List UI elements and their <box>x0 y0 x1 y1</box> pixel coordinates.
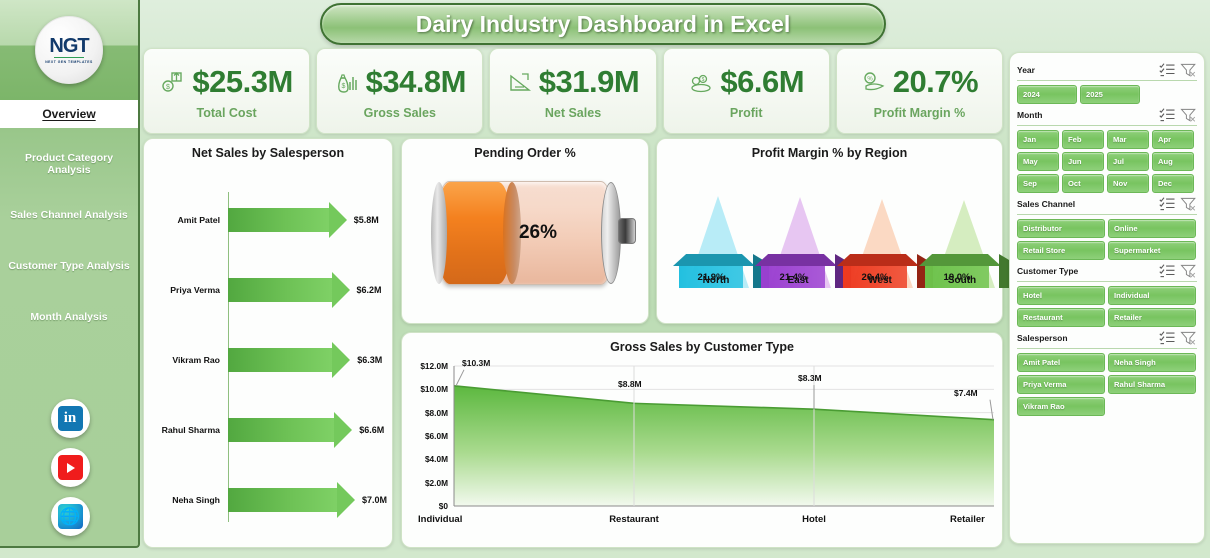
slicer-item[interactable]: Jul <box>1107 152 1149 171</box>
slicer-salesperson: SalespersonAmit PatelNeha SinghPriya Ver… <box>1017 331 1197 416</box>
globe-icon: 🌐 <box>58 504 83 529</box>
sidebar-item-overview[interactable]: Overview <box>0 100 138 128</box>
multi-select-icon[interactable] <box>1159 63 1176 77</box>
multi-select-icon[interactable] <box>1159 331 1176 345</box>
social-links: in 🌐 <box>0 399 140 536</box>
area-chart-plot: $0$2.0M$4.0M$6.0M$8.0M$10.0M$12.0M$10.3M… <box>402 354 1002 540</box>
clear-filter-icon[interactable] <box>1180 264 1197 278</box>
divider <box>1017 348 1197 349</box>
arrow-bar <box>228 418 335 442</box>
x-axis-tick: Retailer <box>950 514 985 525</box>
divider <box>1017 281 1197 282</box>
area-series <box>402 354 1004 524</box>
sidebar-item-label: Sales Channel Analysis <box>10 209 128 221</box>
chart-gross-sales-by-customer-type: Gross Sales by Customer Type $0$2.0M$4.0… <box>401 332 1003 548</box>
slicer-item[interactable]: 2025 <box>1080 85 1140 104</box>
kpi-label: Total Cost <box>197 106 257 120</box>
kpi-value: $31.9M <box>539 64 639 100</box>
slicer-item[interactable]: Retail Store <box>1017 241 1105 260</box>
logo-divider <box>54 57 84 59</box>
gross-sales-icon: $ <box>334 70 360 94</box>
category-label: East <box>755 275 841 286</box>
slicer-item[interactable]: Apr <box>1152 130 1194 149</box>
category-label: Vikram Rao <box>144 355 224 365</box>
slicer-item[interactable]: Individual <box>1108 286 1196 305</box>
pyramid-bar: 19.0%South <box>919 170 1005 288</box>
slicer-title: Year <box>1017 65 1155 75</box>
kpi-card-net-sales: $31.9M Net Sales <box>489 48 656 134</box>
pyramid-bar: 21.9%North <box>673 170 759 288</box>
kpi-label: Profit Margin % <box>874 106 966 120</box>
arrow-chart-plot: Amit Patel$5.8MPriya Verma$6.2MVikram Ra… <box>144 162 392 532</box>
slicer-item[interactable]: Oct <box>1062 174 1104 193</box>
data-point-label: $7.4M <box>954 388 978 398</box>
clear-filter-icon[interactable] <box>1180 63 1197 77</box>
multi-select-icon[interactable] <box>1159 108 1176 122</box>
kpi-card-profit-margin: % 20.7% Profit Margin % <box>836 48 1003 134</box>
arrow-bar <box>228 488 338 512</box>
slicer-items: HotelIndividualRestaurantRetailer <box>1017 286 1197 327</box>
clear-filter-icon[interactable] <box>1180 331 1197 345</box>
logo: NGT NEXT GEN TEMPLATES <box>35 16 103 84</box>
slicer-header: Sales Channel <box>1017 197 1197 211</box>
category-label: South <box>919 275 1005 286</box>
slicer-header: Customer Type <box>1017 264 1197 278</box>
arrow-bar-row: Amit Patel$5.8M <box>144 200 392 240</box>
x-axis-tick: Individual <box>418 514 462 525</box>
value-label: $6.2M <box>357 285 382 295</box>
arrow-bar <box>228 348 333 372</box>
multi-select-icon[interactable] <box>1159 264 1176 278</box>
slicer-header: Month <box>1017 108 1197 122</box>
logo-mark: NGT <box>49 36 88 56</box>
slicer-items: DistributorOnlineRetail StoreSupermarket <box>1017 219 1197 260</box>
sidebar-item-sales-channel-analysis[interactable]: Sales Channel Analysis <box>0 189 138 240</box>
pyramid-bar: 20.4%West <box>837 170 923 288</box>
divider <box>1017 125 1197 126</box>
x-axis-tick: Hotel <box>779 514 849 525</box>
x-axis-tick: Restaurant <box>599 514 669 525</box>
data-point-label: $10.3M <box>462 358 490 368</box>
divider <box>1017 80 1197 81</box>
sidebar-item-label: Product Category Analysis <box>4 152 134 176</box>
slicer-item[interactable]: Rahul Sharma <box>1108 375 1196 394</box>
battery-terminal <box>618 218 636 244</box>
value-label: $5.8M <box>354 215 379 225</box>
slicer-item[interactable]: Vikram Rao <box>1017 397 1105 416</box>
kpi-label: Gross Sales <box>364 106 436 120</box>
youtube-link[interactable] <box>51 448 90 487</box>
slicer-item[interactable]: Nov <box>1107 174 1149 193</box>
category-label: North <box>673 275 759 286</box>
slicer-title: Month <box>1017 110 1155 120</box>
slicer-item[interactable]: Amit Patel <box>1017 353 1105 372</box>
svg-text:%: % <box>867 77 873 83</box>
slicer-item[interactable]: Distributor <box>1017 219 1105 238</box>
chart-title: Gross Sales by Customer Type <box>402 333 1002 354</box>
kpi-label: Profit <box>730 106 763 120</box>
slicer-item[interactable]: Jan <box>1017 130 1059 149</box>
linkedin-link[interactable]: in <box>51 399 90 438</box>
kpi-card-profit: $ $6.6M Profit <box>663 48 830 134</box>
category-label: Amit Patel <box>144 215 224 225</box>
kpi-label: Net Sales <box>545 106 601 120</box>
slicer-title: Customer Type <box>1017 266 1155 276</box>
category-label: Neha Singh <box>144 495 224 505</box>
slicer-item[interactable]: Hotel <box>1017 286 1105 305</box>
page-title: Dairy Industry Dashboard in Excel <box>320 3 886 45</box>
slicer-header: Salesperson <box>1017 331 1197 345</box>
arrow-bar <box>228 278 333 302</box>
website-link[interactable]: 🌐 <box>51 497 90 536</box>
slicer-title: Sales Channel <box>1017 199 1155 209</box>
slicer-header: Year <box>1017 63 1197 77</box>
arrow-bar <box>228 208 330 232</box>
slicer-items: Amit PatelNeha SinghPriya VermaRahul Sha… <box>1017 353 1197 416</box>
sidebar-item-label: Month Analysis <box>30 311 107 323</box>
kpi-row: $ $25.3M Total Cost $ $34.8M Gross Sales <box>143 48 1003 134</box>
slicer-item[interactable]: Sep <box>1017 174 1059 193</box>
slicer-items: JanFebMarAprMayJunJulAugSepOctNovDec <box>1017 130 1197 193</box>
gauge-value: 26% <box>436 182 614 284</box>
svg-text:$: $ <box>341 83 345 90</box>
profit-icon: $ <box>688 70 714 94</box>
divider <box>1017 214 1197 215</box>
logo-band: NGT NEXT GEN TEMPLATES <box>0 0 138 100</box>
svg-text:$: $ <box>702 77 705 83</box>
chart-title: Profit Margin % by Region <box>657 139 1002 160</box>
total-cost-icon: $ <box>160 70 186 94</box>
chart-net-sales-by-salesperson: Net Sales by Salesperson Amit Patel$5.8M… <box>143 138 393 548</box>
filter-panel: Year20242025MonthJanFebMarAprMayJunJulAu… <box>1009 52 1205 544</box>
chart-profit-margin-by-region: Profit Margin % by Region 21.9%North21.4… <box>656 138 1003 324</box>
multi-select-icon[interactable] <box>1159 197 1176 211</box>
slicer-title: Salesperson <box>1017 333 1155 343</box>
slicer-item[interactable]: Aug <box>1152 152 1194 171</box>
pyramid-bar: 21.4%East <box>755 170 841 288</box>
slicer-item[interactable]: Neha Singh <box>1108 353 1196 372</box>
gauge-plot: 26% <box>402 160 648 305</box>
kpi-value: $34.8M <box>366 64 466 100</box>
data-point-label: $8.8M <box>618 379 642 389</box>
slicer-customer-type: Customer TypeHotelIndividualRestaurantRe… <box>1017 264 1197 327</box>
chart-title: Pending Order % <box>402 139 648 160</box>
pyramid-chart-plot: 21.9%North21.4%East20.4%West19.0%South <box>657 160 1002 310</box>
slicer-item[interactable]: Restaurant <box>1017 308 1105 327</box>
slicer-item[interactable]: Jun <box>1062 152 1104 171</box>
kpi-card-gross-sales: $ $34.8M Gross Sales <box>316 48 483 134</box>
arrow-bar-row: Neha Singh$7.0M <box>144 480 392 520</box>
chart-title: Net Sales by Salesperson <box>144 139 392 160</box>
slicer-item[interactable]: 2024 <box>1017 85 1077 104</box>
kpi-value: $25.3M <box>192 64 292 100</box>
value-label: $6.6M <box>359 425 384 435</box>
slicer-year: Year20242025 <box>1017 63 1197 104</box>
slicer-item[interactable]: Dec <box>1152 174 1194 193</box>
page-title-text: Dairy Industry Dashboard in Excel <box>416 11 791 38</box>
sidebar-item-customer-type-analysis[interactable]: Customer Type Analysis <box>0 240 138 291</box>
arrow-bar-row: Priya Verma$6.2M <box>144 270 392 310</box>
sidebar-item-product-category-analysis[interactable]: Product Category Analysis <box>0 138 138 189</box>
sidebar-item-month-analysis[interactable]: Month Analysis <box>0 291 138 342</box>
slicer-sales-channel: Sales ChannelDistributorOnlineRetail Sto… <box>1017 197 1197 260</box>
slicer-item[interactable]: Feb <box>1062 130 1104 149</box>
chart-pending-order: Pending Order % 26% <box>401 138 649 324</box>
data-point-label: $8.3M <box>798 373 822 383</box>
youtube-icon <box>58 455 83 480</box>
value-label: $6.3M <box>357 355 382 365</box>
kpi-card-total-cost: $ $25.3M Total Cost <box>143 48 310 134</box>
profit-margin-icon: % <box>861 70 887 94</box>
arrow-bar-row: Vikram Rao$6.3M <box>144 340 392 380</box>
kpi-value: 20.7% <box>893 64 978 100</box>
kpi-value: $6.6M <box>720 64 804 100</box>
clear-filter-icon[interactable] <box>1180 197 1197 211</box>
clear-filter-icon[interactable] <box>1180 108 1197 122</box>
sidebar-item-overview-label: Overview <box>42 107 95 121</box>
linkedin-icon: in <box>58 406 83 431</box>
category-label: Rahul Sharma <box>144 425 224 435</box>
slicer-item[interactable]: Priya Verma <box>1017 375 1105 394</box>
svg-text:$: $ <box>166 84 170 91</box>
logo-tagline: NEXT GEN TEMPLATES <box>45 60 93 64</box>
slicer-month: MonthJanFebMarAprMayJunJulAugSepOctNovDe… <box>1017 108 1197 193</box>
sidebar-item-label: Customer Type Analysis <box>8 260 129 272</box>
sidebar: NGT NEXT GEN TEMPLATES Overview Product … <box>0 0 140 548</box>
slicer-item[interactable]: May <box>1017 152 1059 171</box>
slicer-item[interactable]: Online <box>1108 219 1196 238</box>
slicer-item[interactable]: Supermarket <box>1108 241 1196 260</box>
slicer-item[interactable]: Retailer <box>1108 308 1196 327</box>
slicer-item[interactable]: Mar <box>1107 130 1149 149</box>
slicer-items: 20242025 <box>1017 85 1197 104</box>
category-label: Priya Verma <box>144 285 224 295</box>
net-sales-icon <box>507 70 533 94</box>
arrow-bar-row: Rahul Sharma$6.6M <box>144 410 392 450</box>
value-label: $7.0M <box>362 495 387 505</box>
battery-gauge: 26% <box>435 181 615 285</box>
category-label: West <box>837 275 923 286</box>
